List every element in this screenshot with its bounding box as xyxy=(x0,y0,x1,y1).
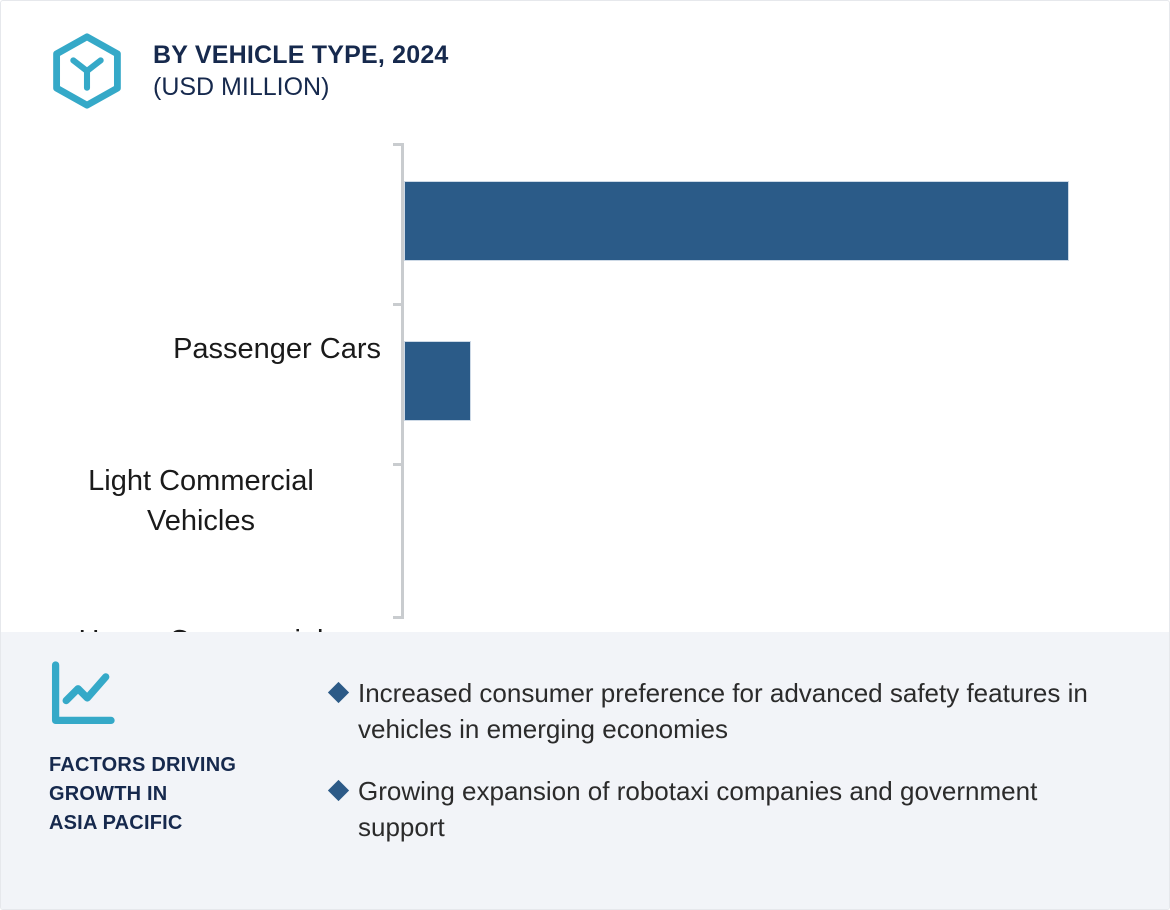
bullet-text: Growing expansion of robotaxi companies … xyxy=(358,774,1088,846)
factors-bullet-list: Increased consumer preference for advanc… xyxy=(331,632,1170,910)
bar-chart: Passenger Cars Light Commercial Vehicles… xyxy=(1,131,1170,631)
bar-light-commercial-vehicles[interactable] xyxy=(404,341,471,421)
list-item: Increased consumer preference for advanc… xyxy=(331,676,1131,748)
hexagon-vehicle-icon xyxy=(49,33,125,109)
bar-passenger-cars[interactable] xyxy=(404,181,1069,261)
category-label-line: Light Commercial xyxy=(21,461,381,501)
line-chart-growth-icon xyxy=(49,661,115,727)
axis-tick xyxy=(393,303,404,306)
factors-panel-heading: FACTORS DRIVING GROWTH IN ASIA PACIFIC xyxy=(49,751,331,838)
axis-tick xyxy=(393,143,404,146)
chart-plot-area: Passenger Cars Light Commercial Vehicles… xyxy=(1,131,1170,631)
category-label-passenger-cars: Passenger Cars xyxy=(21,329,381,369)
category-label-line: Passenger Cars xyxy=(173,333,381,365)
factors-heading-line: ASIA PACIFIC xyxy=(49,809,331,838)
list-item: Growing expansion of robotaxi companies … xyxy=(331,774,1131,846)
card-header: BY VEHICLE TYPE, 2024 (USD MILLION) xyxy=(1,1,1169,131)
diamond-bullet-icon xyxy=(328,682,349,703)
chart-card: BY VEHICLE TYPE, 2024 (USD MILLION) Pass… xyxy=(0,0,1170,910)
factors-heading-line: FACTORS DRIVING xyxy=(49,751,331,780)
page-title: BY VEHICLE TYPE, 2024 xyxy=(153,39,449,71)
category-label-line: Vehicles xyxy=(21,501,381,541)
axis-tick xyxy=(393,616,404,619)
factors-heading-line: GROWTH IN xyxy=(49,780,331,809)
header-text-block: BY VEHICLE TYPE, 2024 (USD MILLION) xyxy=(153,31,449,103)
factors-panel: FACTORS DRIVING GROWTH IN ASIA PACIFIC I… xyxy=(1,632,1170,910)
page-subtitle: (USD MILLION) xyxy=(153,71,449,103)
diamond-bullet-icon xyxy=(328,780,349,801)
factors-panel-left: FACTORS DRIVING GROWTH IN ASIA PACIFIC xyxy=(1,632,331,910)
bullet-text: Increased consumer preference for advanc… xyxy=(358,676,1088,748)
category-label-light-commercial-vehicles: Light Commercial Vehicles xyxy=(21,461,381,541)
axis-tick xyxy=(393,463,404,466)
